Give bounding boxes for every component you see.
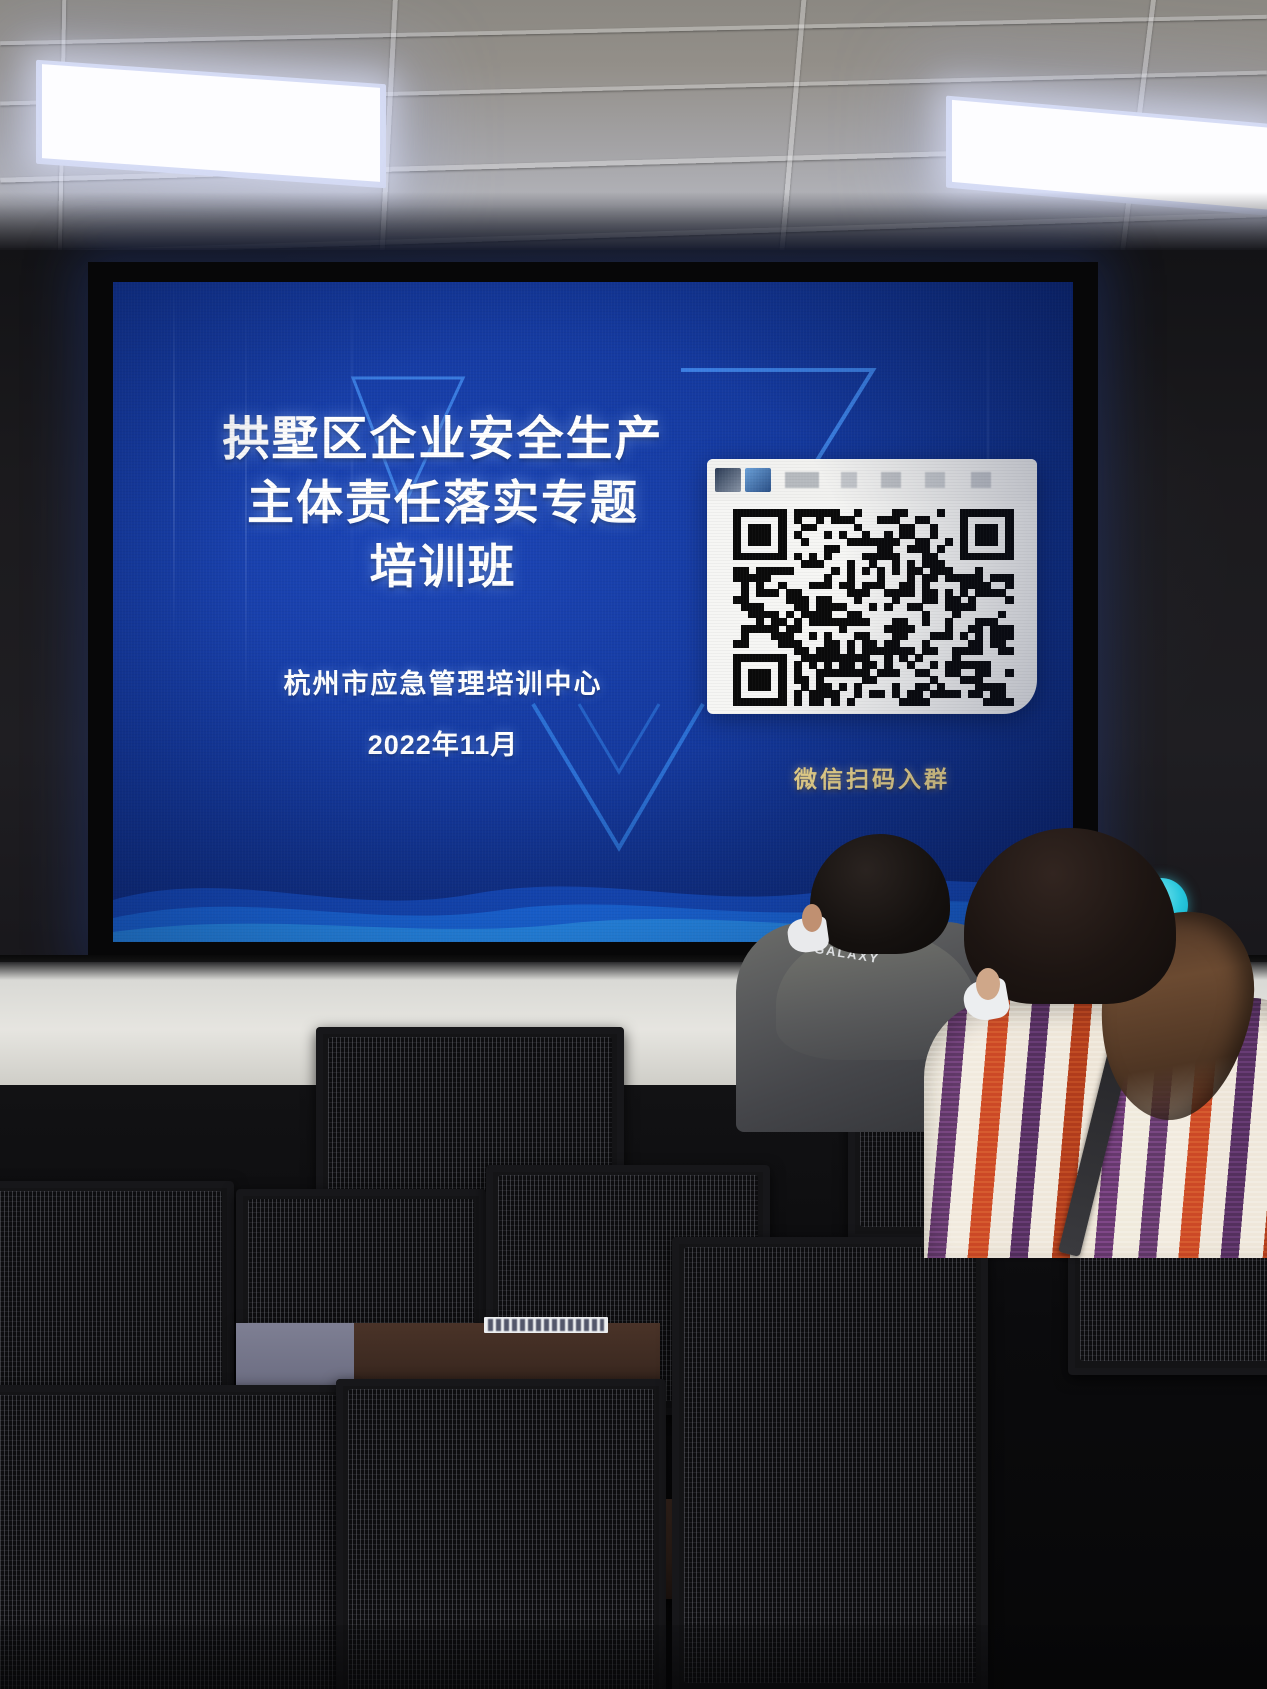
slide-title: 拱墅区企业安全生产 主体责任落实专题 培训班 bbox=[163, 407, 723, 599]
chair[interactable] bbox=[0, 1181, 234, 1411]
qr-caption: 微信扫码入群 bbox=[707, 760, 1037, 794]
slide-subtitle-block: 杭州市应急管理培训中心 2022年11月 bbox=[173, 662, 713, 762]
hair bbox=[810, 834, 950, 954]
chair-frame bbox=[0, 1181, 234, 1411]
slide-title-line-2: 主体责任落实专题 bbox=[163, 471, 723, 535]
name-card bbox=[484, 1317, 608, 1333]
slide-organization: 杭州市应急管理培训中心 bbox=[173, 662, 713, 701]
ear bbox=[802, 904, 822, 932]
chair-frame bbox=[672, 1237, 988, 1689]
suspended-tile-ceiling bbox=[0, 0, 1267, 262]
qr-card-header bbox=[707, 459, 1037, 501]
qr-card-header-text bbox=[785, 472, 1029, 488]
classroom-photo: 拱墅区企业安全生产 主体责任落实专题 培训班 杭州市应急管理培训中心 2022年… bbox=[0, 0, 1267, 1689]
qr-code-image bbox=[733, 509, 1013, 705]
wechat-group-qr-card bbox=[707, 459, 1037, 714]
ear bbox=[976, 968, 1000, 1000]
avatar-thumbnail-icon bbox=[745, 468, 771, 492]
slide-date: 2022年11月 bbox=[173, 723, 713, 762]
name-card-text bbox=[488, 1319, 604, 1331]
attendee-front-right bbox=[948, 818, 1267, 1248]
slide-title-line-3: 培训班 bbox=[163, 535, 723, 599]
chair[interactable] bbox=[672, 1237, 988, 1689]
avatar-thumbnail-icon bbox=[715, 468, 741, 492]
ceiling-runner bbox=[0, 15, 1267, 46]
foreground-shadow bbox=[0, 1625, 1267, 1689]
slide-title-line-1: 拱墅区企业安全生产 bbox=[163, 407, 723, 471]
